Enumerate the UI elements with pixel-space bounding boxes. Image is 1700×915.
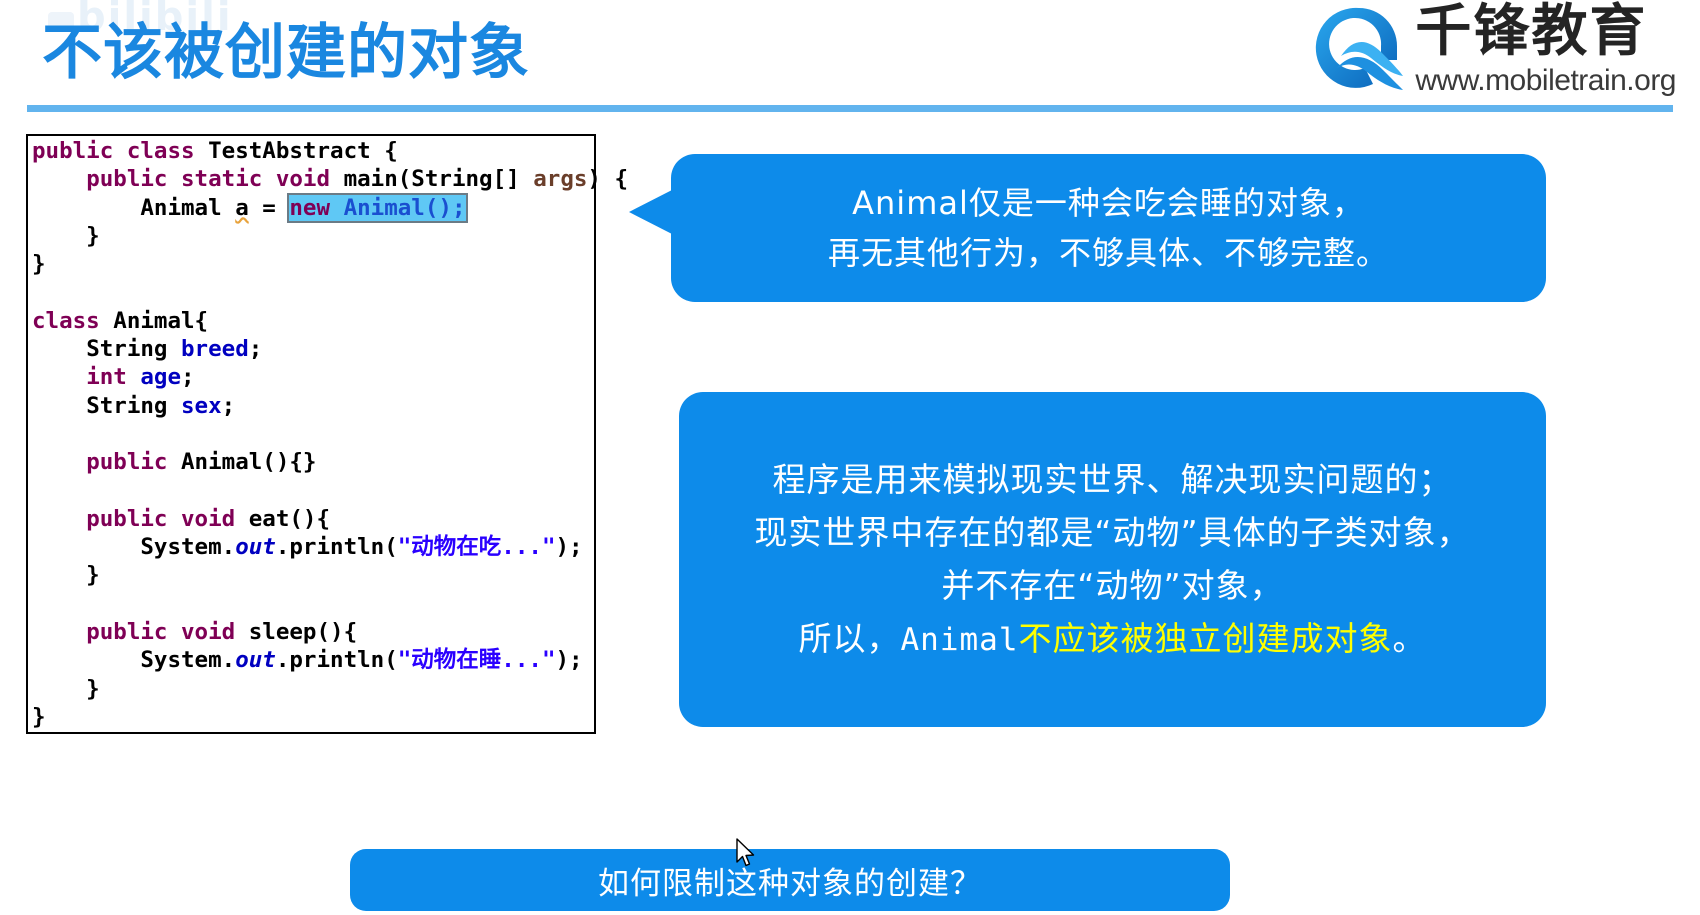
- code-system: System.: [140, 647, 235, 673]
- code-keyword: public: [86, 449, 167, 475]
- code-out-field: out: [235, 534, 276, 560]
- code-classname: Animal{: [100, 308, 208, 334]
- callout-line4-prefix: 所以，: [799, 619, 901, 658]
- code-type: String: [86, 336, 181, 362]
- code-constructor: Animal(){}: [167, 449, 316, 475]
- callout-bottom-line-1: 程序是用来模拟现实世界、解决现实问题的；: [773, 453, 1453, 506]
- code-brace: }: [32, 676, 100, 702]
- code-string-eat: "动物在吃...": [398, 534, 556, 560]
- callout-bottom-line-2: 现实世界中存在的都是“动物”具体的子类对象，: [754, 506, 1470, 559]
- code-keyword: class: [32, 308, 100, 334]
- code-system: System.: [140, 534, 235, 560]
- code-constructor-call: Animal();: [330, 195, 465, 221]
- code-call-tail: );: [556, 534, 583, 560]
- code-string-sleep: "动物在睡...": [398, 647, 556, 673]
- code-brace: }: [32, 562, 100, 588]
- code-keyword-new: new: [289, 195, 330, 221]
- code-out-field: out: [235, 647, 276, 673]
- code-brace: }: [32, 251, 46, 277]
- code-brace: }: [32, 223, 100, 249]
- header-divider: [27, 105, 1673, 112]
- code-field: age: [127, 364, 181, 390]
- callout-top-line-1: Animal仅是一种会吃会睡的对象，: [852, 178, 1365, 228]
- code-keyword: public: [32, 138, 113, 164]
- code-method-sleep: sleep(){: [235, 619, 357, 645]
- code-type: int: [86, 364, 127, 390]
- bottom-question-bar: 如何限制这种对象的创建？: [350, 849, 1230, 911]
- code-editor-content[interactable]: public class TestAbstract { public stati…: [32, 137, 732, 731]
- logo-text: 千锋教育 www.mobiletrain.org: [1415, 4, 1676, 96]
- code-keyword: public: [86, 506, 167, 532]
- callout-top-line-2: 再无其他行为，不够具体、不够完整。: [828, 228, 1389, 278]
- code-classname: TestAbstract {: [208, 138, 398, 164]
- code-method-eat: eat(){: [235, 506, 330, 532]
- code-semicolon: ;: [249, 336, 263, 362]
- code-println: .println(: [276, 647, 398, 673]
- callout-line4-animal: Animal: [901, 622, 1019, 658]
- slide-header: bilibili 不该被创建的对象 千锋教育 www.mobiletrain.o…: [0, 0, 1700, 112]
- code-operator: =: [249, 195, 290, 221]
- code-brace: }: [32, 704, 46, 730]
- callout-line4-highlight: 不应该被独立创建成对象: [1018, 619, 1392, 658]
- code-type: Animal: [140, 195, 235, 221]
- callout-bottom-line-3: 并不存在“动物”对象，: [941, 559, 1283, 612]
- code-signature: main(String[]: [344, 166, 534, 192]
- code-keyword: static: [181, 166, 262, 192]
- callout-bottom-line-4: 所以，Animal不应该被独立创建成对象。: [799, 612, 1427, 666]
- code-keyword: void: [276, 166, 330, 192]
- bottom-question-text: 如何限制这种对象的创建？: [598, 858, 982, 903]
- callout-top: Animal仅是一种会吃会睡的对象， 再无其他行为，不够具体、不够完整。: [671, 154, 1546, 302]
- brand-logo: 千锋教育 www.mobiletrain.org: [1311, 2, 1676, 98]
- code-semicolon: ;: [222, 393, 236, 419]
- qianfeng-q-logo-icon: [1311, 4, 1407, 96]
- code-type: String: [86, 393, 181, 419]
- code-field: sex: [181, 393, 222, 419]
- code-param: args: [533, 166, 587, 192]
- callout-line4-suffix: 。: [1392, 619, 1426, 658]
- code-keyword: class: [127, 138, 195, 164]
- code-signature-tail: ) {: [587, 166, 628, 192]
- code-keyword: void: [181, 619, 235, 645]
- callout-bottom: 程序是用来模拟现实世界、解决现实问题的； 现实世界中存在的都是“动物”具体的子类…: [679, 392, 1546, 727]
- code-variable: a: [235, 195, 249, 221]
- code-call-tail: );: [556, 647, 583, 673]
- code-keyword: public: [86, 166, 167, 192]
- brand-url: www.mobiletrain.org: [1415, 66, 1676, 96]
- code-keyword: void: [181, 506, 235, 532]
- code-keyword: public: [86, 619, 167, 645]
- code-println: .println(: [276, 534, 398, 560]
- code-selection-new-animal[interactable]: new Animal();: [289, 195, 465, 221]
- code-field: breed: [181, 336, 249, 362]
- code-semicolon: ;: [181, 364, 195, 390]
- brand-name-cn: 千锋教育: [1415, 4, 1647, 60]
- page-title: 不该被创建的对象: [42, 4, 530, 91]
